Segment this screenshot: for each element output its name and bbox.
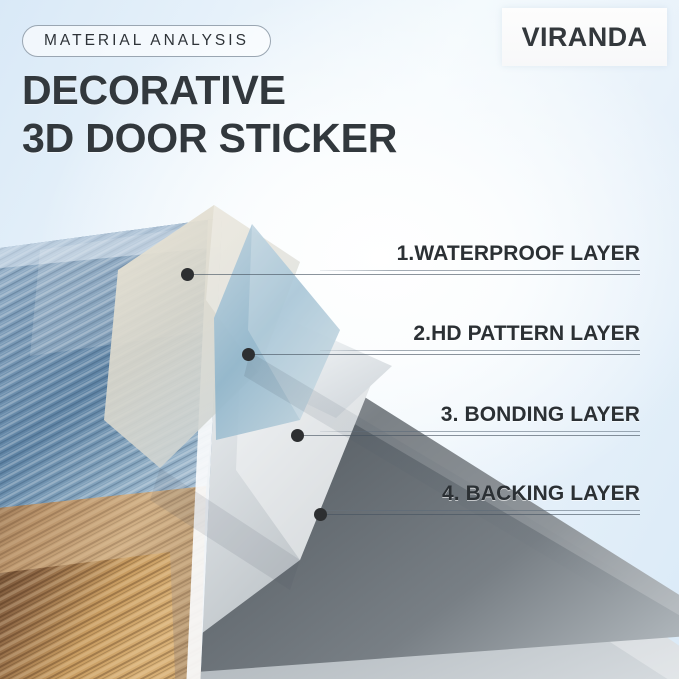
callout-bonding-layer: 3. BONDING LAYER <box>320 403 640 432</box>
badge-label: MATERIAL ANALYSIS <box>44 32 249 50</box>
headline-line-1: DECORATIVE <box>22 67 286 113</box>
callout-backing-layer: 4. BACKING LAYER <box>320 482 640 511</box>
callout-hd-pattern-layer: 2.HD PATTERN LAYER <box>320 322 640 351</box>
badge-material-analysis: MATERIAL ANALYSIS <box>22 25 271 57</box>
callout-rule-3 <box>320 431 640 432</box>
callout-label-3: 3. BONDING LAYER <box>320 403 640 427</box>
poster-canvas: MATERIAL ANALYSIS DECORATIVE 3D DOOR STI… <box>0 0 679 679</box>
callout-rule-4 <box>320 510 640 511</box>
callout-label-4: 4. BACKING LAYER <box>320 482 640 506</box>
callout-waterproof-layer: 1.WATERPROOF LAYER <box>320 242 640 271</box>
callout-rule-2 <box>320 350 640 351</box>
callout-leader-1 <box>193 274 640 275</box>
page-title: DECORATIVE 3D DOOR STICKER <box>22 68 397 161</box>
callout-dot-1 <box>181 268 194 281</box>
callout-dot-4 <box>314 508 327 521</box>
callout-leader-2 <box>254 354 640 355</box>
headline-line-2: 3D DOOR STICKER <box>22 116 397 161</box>
callout-label-2: 2.HD PATTERN LAYER <box>320 322 640 346</box>
callout-leader-4 <box>326 514 640 515</box>
brand-logo: VIRANDA <box>502 8 667 66</box>
callout-rule-1 <box>320 270 640 271</box>
callout-label-1: 1.WATERPROOF LAYER <box>320 242 640 266</box>
callout-dot-2 <box>242 348 255 361</box>
callout-leader-3 <box>303 435 640 436</box>
callout-dot-3 <box>291 429 304 442</box>
brand-logo-text: VIRANDA <box>522 22 648 53</box>
